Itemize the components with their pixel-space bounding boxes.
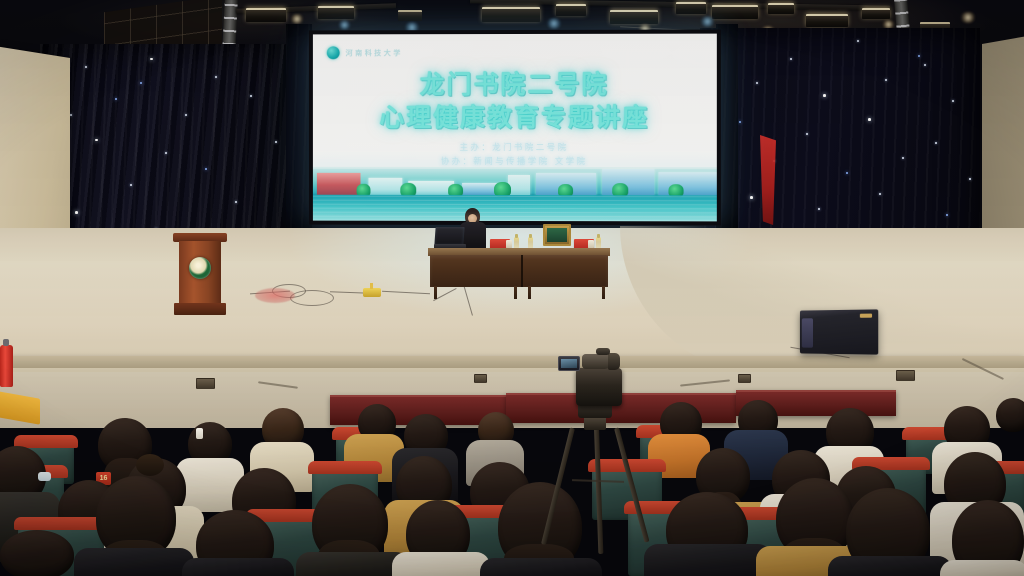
stage-light-5 <box>610 10 658 24</box>
panorama-red-block <box>317 173 361 195</box>
person-torso <box>74 548 194 576</box>
camera-rig[interactable] <box>556 352 646 552</box>
stage-light-11 <box>398 10 422 21</box>
stage-light-10 <box>862 8 890 19</box>
podium-base <box>174 303 226 315</box>
floor-monitor-speaker <box>800 309 878 354</box>
lamp-glow-4 <box>700 16 715 27</box>
stage-light-8 <box>768 3 794 14</box>
stage-light-1 <box>246 8 286 22</box>
person-torso <box>940 560 1024 576</box>
person-torso <box>392 552 490 576</box>
table-leg-2 <box>514 286 517 299</box>
table-leg-3 <box>528 286 531 299</box>
video-camera-body[interactable] <box>576 368 622 406</box>
person-torso <box>182 558 294 576</box>
person-head <box>0 530 74 576</box>
slide-logo-group: 河南科技大学 <box>327 46 403 59</box>
panorama-building-4 <box>508 175 530 195</box>
table-leg-4 <box>602 286 605 299</box>
projection-screen-frame: 河南科技大学 龙门书院二号院 心理健康教育专题讲座 主办：龙门书院二号院 协办：… <box>309 30 721 226</box>
stage-red-mat <box>255 288 295 303</box>
stage-light-6 <box>676 2 706 14</box>
audience-section: 16 <box>0 380 1024 576</box>
panorama-building-6 <box>602 169 654 195</box>
stage-light-2 <box>318 6 354 19</box>
floor-cable-loop-2 <box>290 290 334 306</box>
camera-lens-hood <box>608 353 620 370</box>
slide-subtitle-block: 主办：龙门书院二号院 协办：新闻与传播学院 文学院 <box>313 142 717 169</box>
floor-yellow-device <box>363 288 381 297</box>
tripod-head[interactable] <box>584 416 606 430</box>
stage-light-4 <box>556 4 586 16</box>
slide-subtitle-line-1: 主办：龙门书院二号院 <box>313 142 717 156</box>
slide-title-line-2: 心理健康教育专题讲座 <box>313 102 717 133</box>
hair-clip <box>196 428 203 439</box>
lecture-hall-scene: 河南科技大学 龙门书院二号院 心理健康教育专题讲座 主办：龙门书院二号院 协办：… <box>0 0 1024 576</box>
person-torso <box>480 558 602 576</box>
panorama-building-7 <box>658 172 716 195</box>
laptop-screen <box>434 227 464 245</box>
hair-bun <box>136 454 164 476</box>
table-display-frame <box>543 224 571 246</box>
lamp-glow-warm-1 <box>290 14 304 24</box>
head-table <box>428 248 610 300</box>
person-torso <box>644 544 772 576</box>
projection-screen: 河南科技大学 龙门书院二号院 心理健康教育专题讲座 主办：龙门书院二号院 协办：… <box>313 34 717 222</box>
tripod-leg-right <box>614 427 649 542</box>
slide-title-block: 龙门书院二号院 心理健康教育专题讲座 <box>313 70 717 133</box>
panorama-building-1 <box>368 178 402 195</box>
podium[interactable] <box>176 233 224 317</box>
slide-campus-panorama <box>313 167 717 222</box>
camera-microphone <box>596 348 610 355</box>
table-skirt <box>430 255 608 287</box>
face-mask <box>38 472 51 481</box>
lamp-glow-3 <box>546 18 562 29</box>
stage-light-7 <box>712 5 758 19</box>
panorama-water-reflection <box>313 195 717 222</box>
tripod-leg-center <box>594 428 603 554</box>
stage-light-9 <box>806 14 848 27</box>
table-leg-1 <box>434 286 437 299</box>
lamp-glow-1 <box>338 20 351 30</box>
person-torso <box>828 556 952 576</box>
lamp-glow-warm-5 <box>960 12 976 23</box>
stage-light-3 <box>482 7 540 22</box>
university-logo-text: 河南科技大学 <box>346 48 403 58</box>
camera-lcd-screen[interactable] <box>558 356 580 371</box>
university-logo-icon <box>327 46 340 59</box>
table-seam <box>521 255 523 287</box>
slide-title-line-1: 龙门书院二号院 <box>313 70 717 101</box>
person-head <box>996 398 1024 432</box>
podium-emblem-icon <box>189 257 211 279</box>
